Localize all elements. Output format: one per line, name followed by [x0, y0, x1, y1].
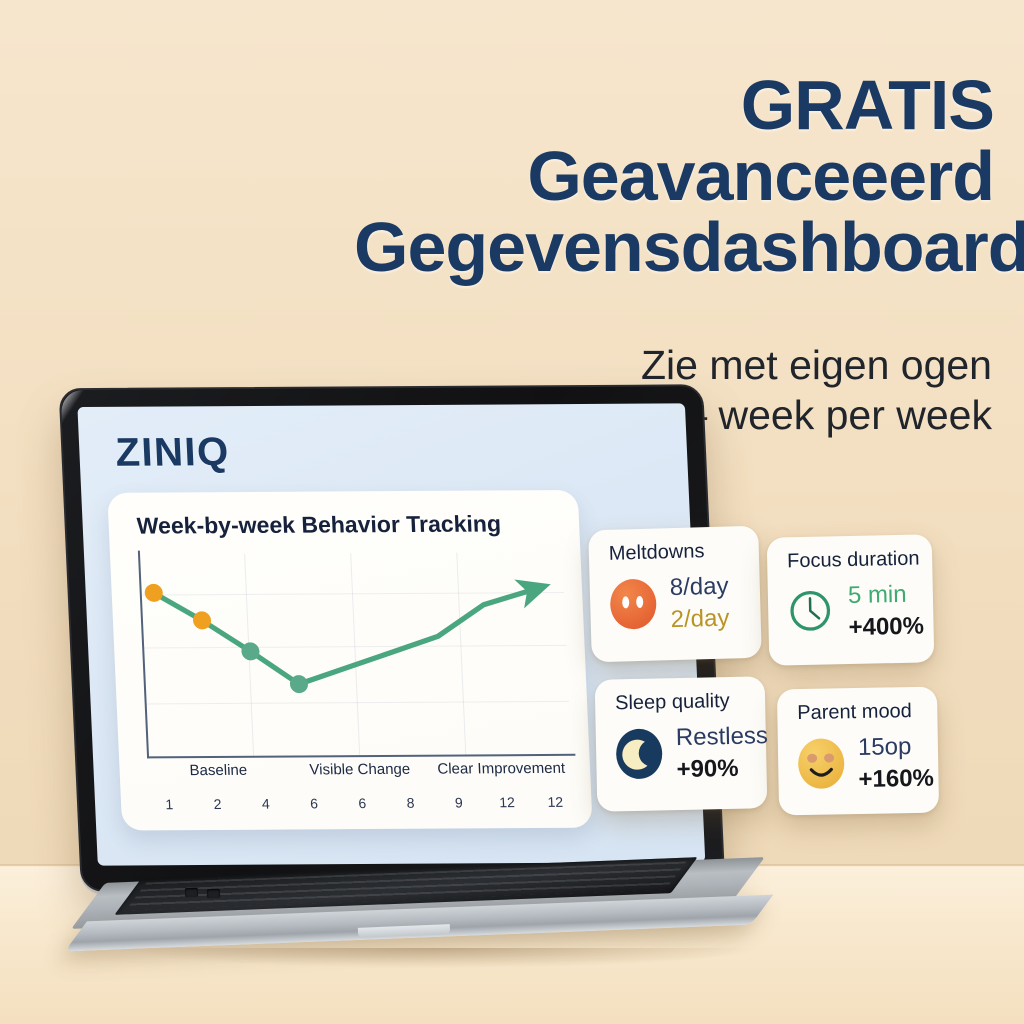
stat-value-after: +90% — [676, 755, 739, 784]
laptop-drop-shadow — [128, 948, 748, 968]
chart-data-point — [144, 584, 163, 602]
stat-value-before: Restless — [676, 722, 769, 752]
stat-card-sleep-quality[interactable]: Sleep quality Restless +90% — [595, 676, 768, 812]
chart-zone-label: Clear Improvement — [430, 760, 572, 783]
stat-card-meltdowns[interactable]: Meltdowns 8/day 2/day — [588, 526, 762, 663]
chart-zone-label: Visible Change — [289, 761, 431, 784]
chart-x-tick: 4 — [241, 796, 290, 816]
headline-block: GRATIS Geavanceeerd Gegevensdashboard — [354, 72, 994, 282]
stat-card-focus-duration[interactable]: Focus duration 5 min +400% — [767, 534, 935, 665]
chart-x-tick: 6 — [290, 795, 339, 815]
stat-title: Sleep quality — [615, 690, 730, 715]
stat-value-before: 5 min — [848, 581, 907, 610]
chart-x-tick: 12 — [483, 794, 532, 814]
stat-value-before: 8/day — [669, 573, 728, 603]
smiley-face-icon — [798, 738, 847, 789]
stat-value-after: 2/day — [670, 604, 729, 634]
stat-title: Parent mood — [797, 700, 912, 725]
chart-card: Week-by-week Behavior Tracking — [107, 490, 592, 831]
laptop-mockup: ZINIQ Week-by-week Behavior Tracking — [40, 358, 780, 968]
chart-title: Week-by-week Behavior Tracking — [136, 510, 501, 539]
chart-data-point — [241, 642, 260, 660]
stat-value-before: 15op — [858, 733, 912, 762]
laptop-base — [58, 864, 772, 960]
stat-title: Focus duration — [787, 548, 920, 574]
headline-line-1: GRATIS — [354, 72, 994, 139]
stat-card-parent-mood[interactable]: Parent mood 15op +160% — [777, 687, 939, 816]
promo-image-stage: GRATIS Geavanceeerd Gegevensdashboard Zi… — [0, 0, 1024, 1024]
chart-x-tick: 2 — [193, 796, 242, 816]
chart-x-tick: 8 — [386, 795, 435, 815]
headline-line-3: Gegevensdashboard — [354, 214, 994, 281]
app-logo-ziniq: ZINIQ — [115, 430, 231, 476]
chart-x-tick-row: 12466891212 — [145, 794, 580, 817]
chart-plot-area — [138, 552, 571, 756]
headline-line-2: Geavanceeerd — [354, 143, 994, 210]
chart-x-tick: 6 — [338, 795, 387, 815]
chart-line-series — [138, 552, 571, 756]
chart-x-tick: 1 — [145, 796, 194, 816]
stat-value-after: +160% — [858, 765, 934, 794]
chart-zone-label: Baseline — [147, 762, 289, 785]
chart-x-tick: 12 — [531, 794, 580, 814]
chart-zone-labels: Baseline Visible Change Clear Improvemen… — [147, 760, 572, 785]
chart-data-point — [193, 611, 212, 629]
laptop-port-icon — [207, 889, 220, 899]
laptop-port-icon — [185, 888, 198, 898]
meltdown-face-icon — [610, 578, 659, 629]
moon-icon — [616, 728, 665, 779]
chart-data-point — [290, 675, 309, 693]
chart-x-tick: 9 — [434, 794, 483, 814]
stat-value-after: +400% — [848, 612, 924, 642]
stat-title: Meltdowns — [609, 540, 705, 566]
clock-icon — [788, 586, 837, 637]
